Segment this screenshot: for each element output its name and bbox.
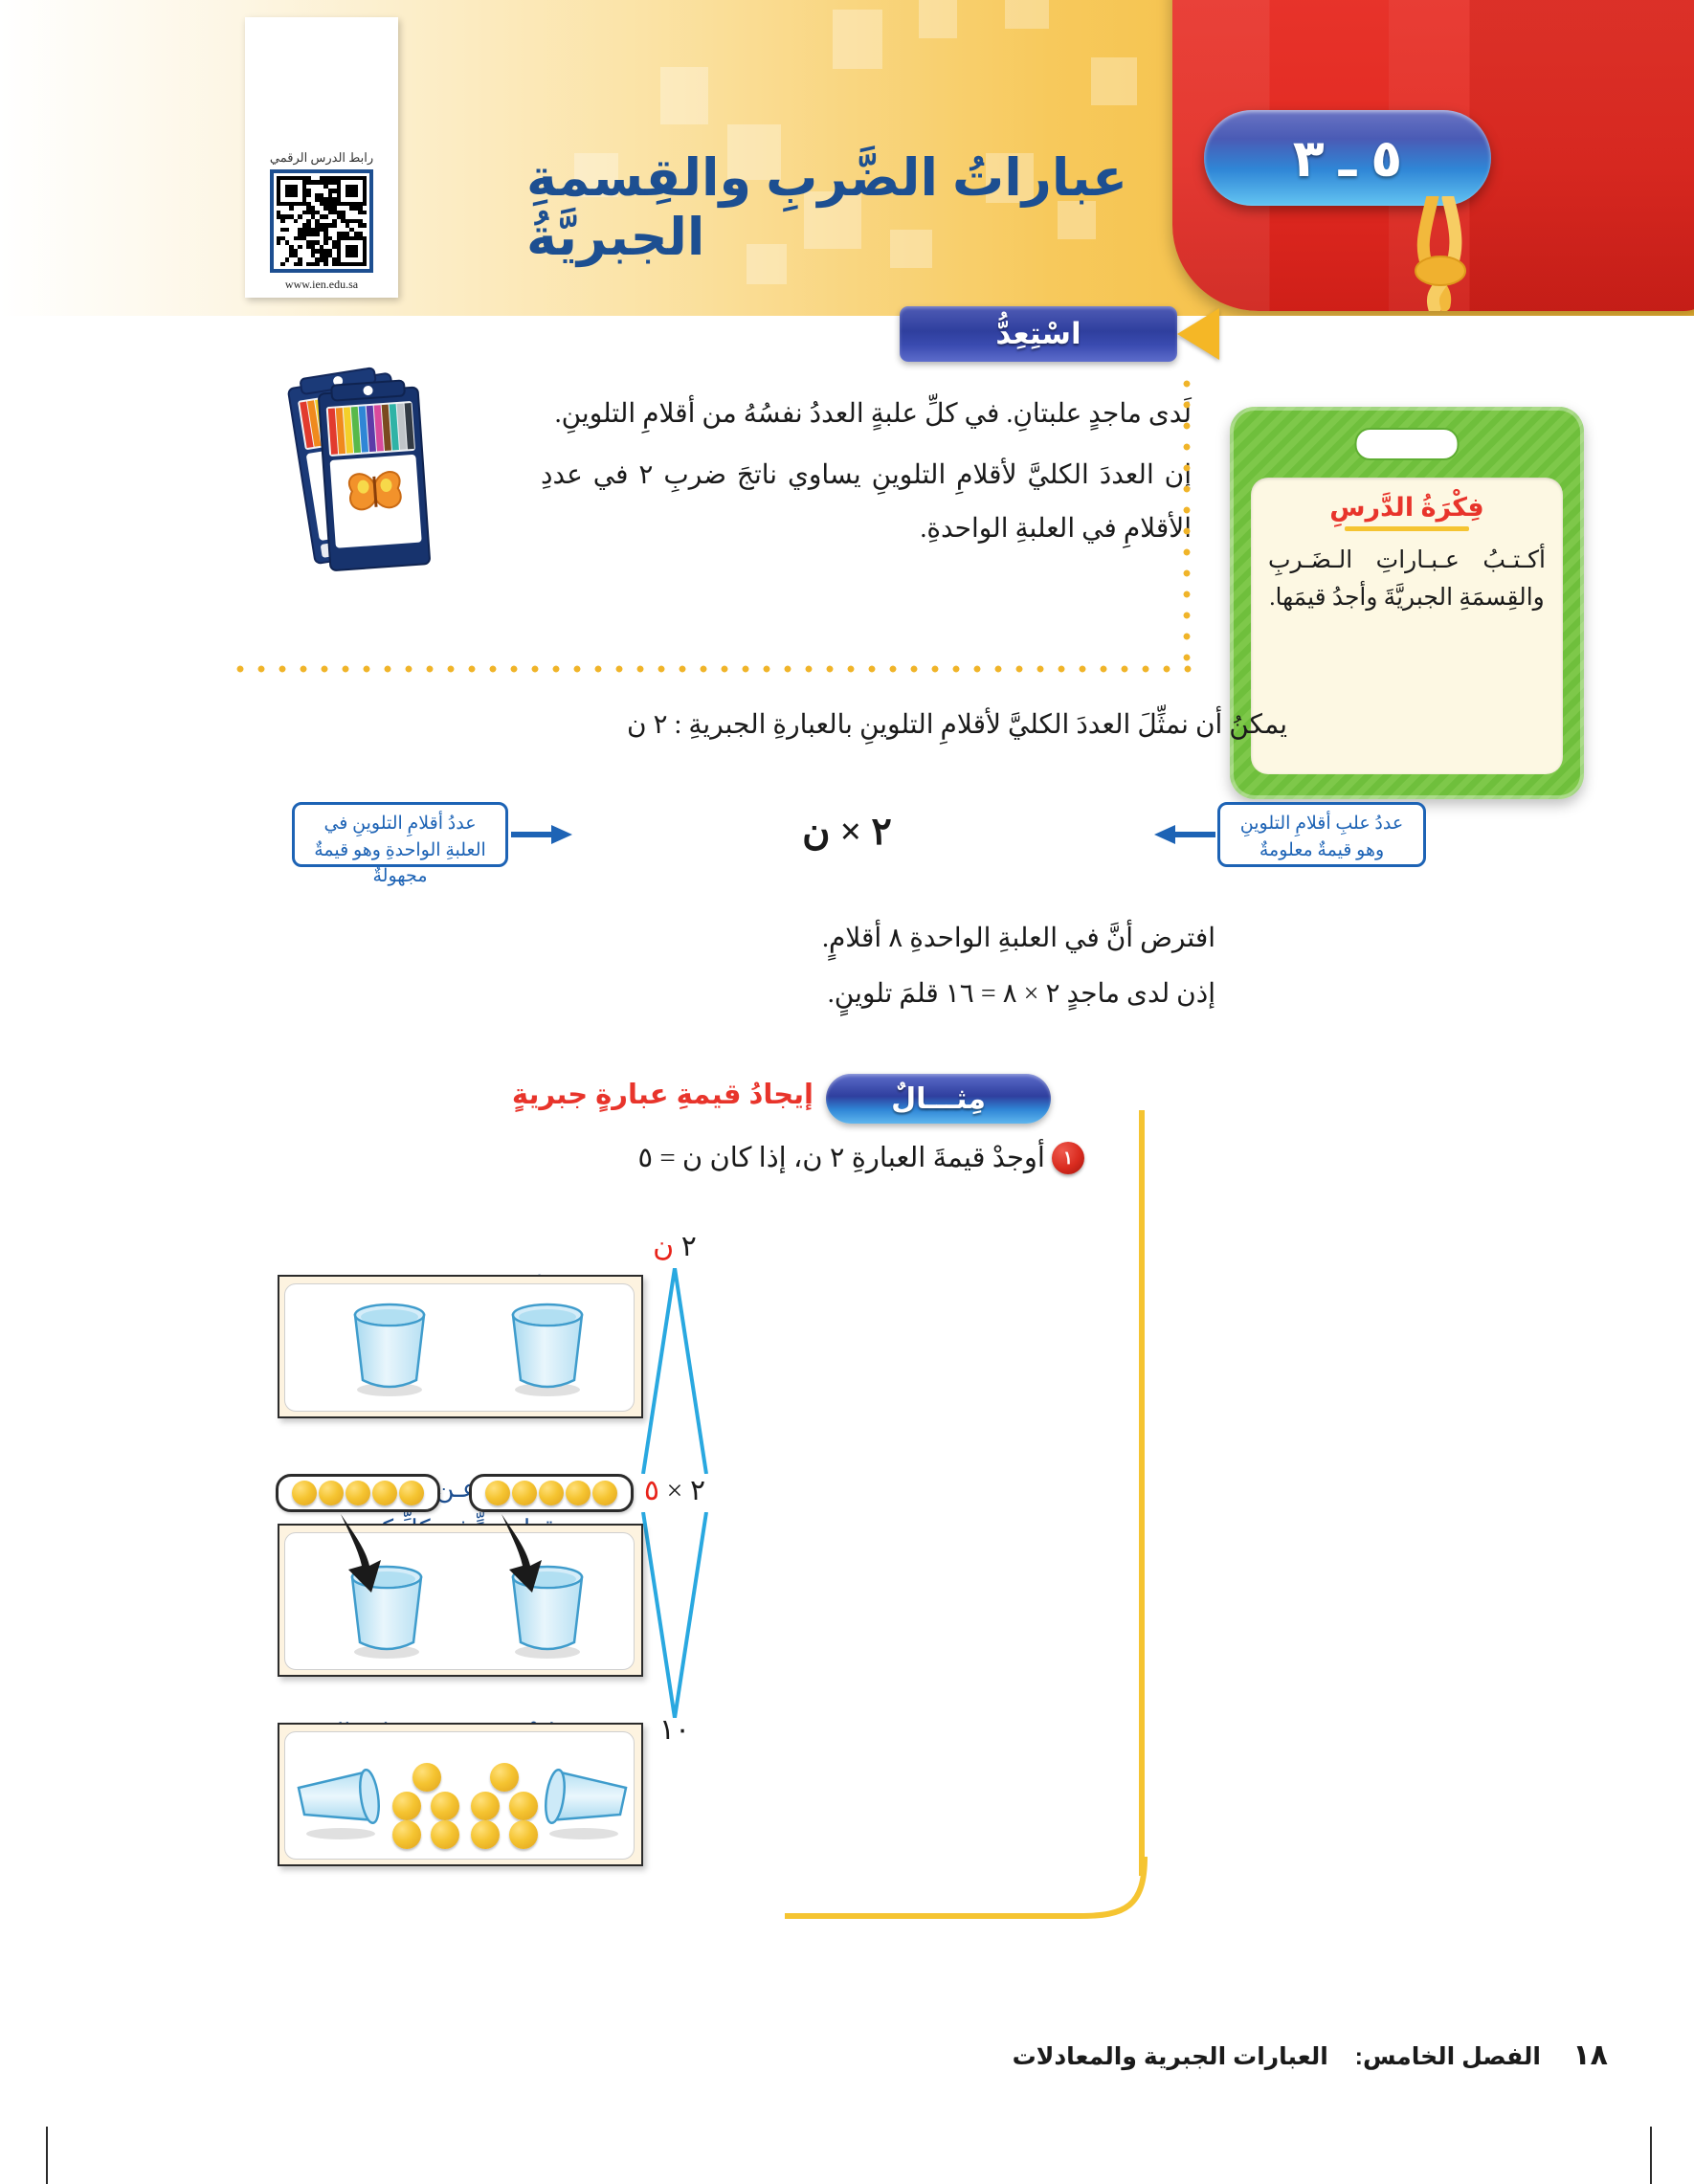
page-number: ١٨ bbox=[1572, 2039, 1608, 2072]
counter-chip bbox=[412, 1763, 441, 1792]
footer-chapter-title: العبارات الجبرية والمعادلات bbox=[1013, 2043, 1328, 2070]
prepare-paragraph-2: إن العددَ الكليَّ لأقلامِ التلوينِ يساوي… bbox=[541, 449, 1192, 556]
prepare-paragraph-1: لَدى ماجدٍ علبتانِ. في كلِّ علبةٍ العددُ… bbox=[541, 388, 1192, 441]
counter-chip bbox=[431, 1820, 459, 1849]
algebraic-expression: ٢ × ن bbox=[0, 809, 1694, 854]
counter-chip bbox=[431, 1792, 459, 1820]
crop-mark-bl-v bbox=[46, 2127, 48, 2184]
example-subtitle: إيجادُ قيمةِ عبارةٍ جبريةٍ bbox=[488, 1078, 814, 1111]
counter-chip bbox=[592, 1481, 617, 1505]
prepare-banner-label: اسْتِعِدُّ bbox=[995, 317, 1081, 351]
example-badge: مِثـــالٌ bbox=[826, 1074, 1051, 1124]
work-1-prefix: ٢ bbox=[674, 1231, 697, 1262]
work-2-prefix: ٢ × bbox=[659, 1475, 705, 1506]
counter-chip bbox=[292, 1481, 317, 1505]
counter-chip bbox=[566, 1481, 591, 1505]
prepare-banner-pill: اسْتِعِدُّ bbox=[900, 306, 1177, 362]
panel-two-empty-cups bbox=[278, 1275, 643, 1418]
lesson-idea-underline bbox=[1345, 526, 1469, 531]
footer-chapter-label: الفصل الخامس: bbox=[1355, 2043, 1541, 2070]
counter-chip bbox=[509, 1820, 538, 1849]
counter-chip bbox=[471, 1792, 500, 1820]
counter-chip bbox=[490, 1763, 519, 1792]
tipped-cup-icon bbox=[536, 1761, 632, 1841]
counter-tray-2 bbox=[469, 1474, 634, 1512]
panel-inner bbox=[284, 1283, 635, 1412]
cup-icon bbox=[347, 1302, 432, 1397]
counter-chip bbox=[372, 1481, 397, 1505]
counter-tray-1 bbox=[276, 1474, 440, 1512]
counter-chip bbox=[392, 1820, 421, 1849]
counter-chip bbox=[399, 1481, 424, 1505]
footer-chapter: الفصل الخامس: العبارات الجبرية والمعادلا… bbox=[1013, 2042, 1541, 2071]
counter-chip bbox=[345, 1481, 370, 1505]
work-2-highlight: ٥ bbox=[644, 1475, 659, 1506]
funnel-connector-1 bbox=[632, 1268, 718, 1474]
panel-inner bbox=[284, 1731, 635, 1860]
qr-label: رابط الدرس الرقمي bbox=[270, 150, 373, 166]
assumption-text: افترض أنَّ في العلبةِ الواحدةِ ٨ أقلامٍ.… bbox=[498, 914, 1215, 1025]
work-1-highlight: ن bbox=[653, 1231, 674, 1262]
crop-mark-br-v bbox=[1650, 2127, 1652, 2184]
counter-chip bbox=[392, 1792, 421, 1820]
lesson-idea-title: فِكْرَةُ الدَّرسِ bbox=[1268, 493, 1546, 523]
dotted-separator-vertical bbox=[1183, 373, 1191, 670]
panel-tipped-cups-with-counters bbox=[278, 1723, 643, 1866]
tipped-cup-icon bbox=[293, 1761, 389, 1841]
prepare-banner: اسْتِعِدُّ bbox=[900, 306, 1215, 362]
lesson-idea-body: أكـتـبُ عـبـاراتِ الـضَـربِ والقِسمَةِ ا… bbox=[1268, 543, 1546, 617]
example-guide-line bbox=[1139, 1110, 1145, 1876]
page-footer: ١٨ الفصل الخامس: العبارات الجبرية والمعا… bbox=[0, 2029, 1694, 2096]
qr-url: www.ien.edu.sa bbox=[285, 278, 358, 292]
work-3-prefix: ١٠ bbox=[659, 1714, 690, 1746]
header-square bbox=[833, 10, 882, 69]
page-title: عباراتُ الضَّربِ والقِسمةِ الجبريَّةُ bbox=[526, 148, 1311, 267]
prepare-text: لَدى ماجدٍ علبتانِ. في كلِّ علبةٍ العددُ… bbox=[541, 388, 1192, 564]
panel-cups-with-counter-trays bbox=[278, 1524, 643, 1677]
prepare-banner-arrow-icon bbox=[1177, 308, 1219, 360]
qr-code-icon bbox=[270, 169, 373, 273]
header-square bbox=[660, 67, 708, 124]
counter-chip bbox=[485, 1481, 510, 1505]
counter-chip bbox=[512, 1481, 537, 1505]
cup-icon bbox=[505, 1302, 590, 1397]
header-square bbox=[1005, 0, 1049, 29]
example-guide-curve bbox=[785, 1857, 1148, 1924]
header-square bbox=[919, 0, 957, 38]
counter-chip bbox=[319, 1481, 344, 1505]
pour-arrow-icon bbox=[498, 1510, 555, 1596]
dotted-separator-horizontal bbox=[230, 665, 1196, 673]
counter-chip bbox=[509, 1792, 538, 1820]
counter-chip bbox=[471, 1820, 500, 1849]
work-line-1: ٢ ن bbox=[603, 1230, 747, 1263]
example-step-number: ١ bbox=[1052, 1142, 1084, 1174]
pour-arrow-icon bbox=[337, 1510, 394, 1596]
header-square bbox=[1091, 57, 1137, 105]
tag-rope-icon bbox=[1393, 196, 1479, 311]
example-badge-label: مِثـــالٌ bbox=[891, 1082, 986, 1116]
colored-pencils-image bbox=[273, 359, 479, 579]
assumption-line-2: إذن لدى ماجدٍ ٢ × ٨ = ١٦ قلمَ تلوينٍ. bbox=[498, 969, 1215, 1019]
funnel-connector-2 bbox=[632, 1512, 718, 1718]
tag-slot bbox=[1355, 428, 1460, 460]
assumption-line-1: افترض أنَّ في العلبةِ الواحدةِ ٨ أقلامٍ. bbox=[498, 914, 1215, 964]
example-problem: أوجدْ قيمةَ العبارةِ ٢ ن، إذا كان ن = ٥ bbox=[509, 1141, 1045, 1174]
qr-link-card[interactable]: رابط الدرس الرقمي www.ien.edu.sa bbox=[245, 17, 398, 298]
expression-lead-in: يمكنُ أن نمثِّلَ العددَ الكليَّ لأقلامِ … bbox=[498, 708, 1416, 741]
counter-chip bbox=[539, 1481, 564, 1505]
